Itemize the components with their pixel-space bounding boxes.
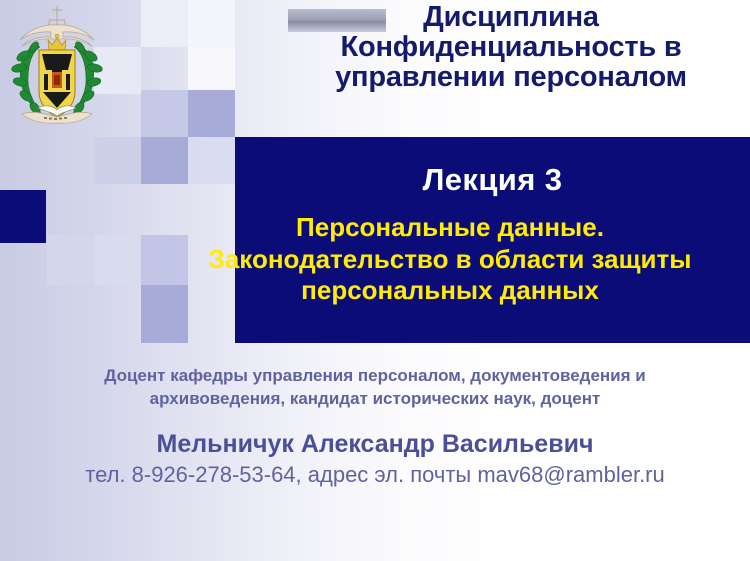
decor-square-light-7 [188,47,235,90]
discipline-header: Дисциплина Конфиденциальность в управлен… [272,2,750,92]
subtitle-line-1: Персональные данные. [150,212,750,244]
lecture-number: Лекция 3 [235,162,750,198]
decor-square-mid-1 [188,90,235,137]
presenter-contact: тел. 8-926-278-53-64, адрес эл. почты ma… [0,462,750,488]
subtitle-line-3: персональных данных [150,275,750,307]
decor-square-light-2 [188,0,235,47]
presenter-footer: Доцент кафедры управления персоналом, до… [0,365,750,488]
decor-square-light-4 [141,90,188,137]
decor-square-light-6 [47,235,94,285]
decor-square-light-1 [141,0,188,47]
decor-square-mid-2 [141,137,188,184]
presentation-slide: Дисциплина Конфиденциальность в управлен… [0,0,750,561]
coat-of-arms-emblem [8,4,106,132]
presenter-name: Мельничук Александр Васильевич [0,430,750,459]
subtitle-line-2: Законодательство в области защиты [150,244,750,276]
decor-square-overlay-2 [94,235,141,285]
presenter-position-line-1: Доцент кафедры управления персоналом, до… [0,365,750,388]
discipline-title-line-1: Конфиденциальность в [272,32,750,62]
presenter-position-line-2: архивоведения, кандидат исторических нау… [0,388,750,411]
discipline-title-line-2: управлении персоналом [272,62,750,92]
lecture-subtitle: Персональные данные. Законодательство в … [150,212,750,307]
decor-square-light-5 [94,137,141,184]
decor-square-overlay-1 [188,137,235,184]
discipline-label: Дисциплина [272,2,750,32]
decor-square-navy-left [0,190,46,243]
